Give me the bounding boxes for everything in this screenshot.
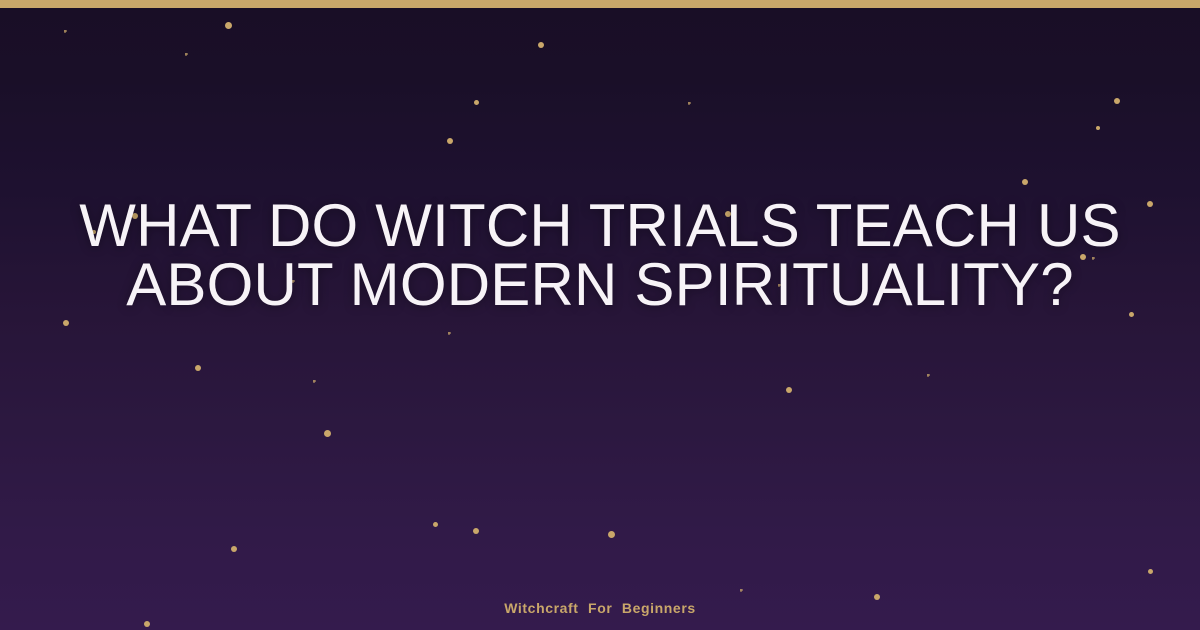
top-accent-bar — [0, 0, 1200, 8]
star-dot-4 — [1114, 98, 1120, 104]
footer-container: Witchcraft For Beginners — [0, 600, 1200, 618]
star-sparkle-22 — [927, 374, 930, 377]
page-title: WHAT DO WITCH TRIALS TEACH US ABOUT MODE… — [0, 196, 1200, 314]
poster-canvas: WHAT DO WITCH TRIALS TEACH US ABOUT MODE… — [0, 0, 1200, 630]
star-dot-25 — [324, 430, 331, 437]
star-sparkle-0 — [64, 30, 67, 33]
headline-container: WHAT DO WITCH TRIALS TEACH US ABOUT MODE… — [0, 196, 1200, 314]
star-sparkle-6 — [688, 102, 691, 105]
star-dot-3 — [538, 42, 544, 48]
brand-label: Witchcraft For Beginners — [504, 600, 696, 616]
star-dot-27 — [473, 528, 479, 534]
star-dot-29 — [231, 546, 237, 552]
star-dot-33 — [144, 621, 150, 627]
star-sparkle-31 — [740, 589, 743, 592]
star-dot-8 — [447, 138, 453, 144]
star-sparkle-24 — [313, 380, 316, 383]
star-dot-7 — [1096, 126, 1100, 130]
star-sparkle-20 — [448, 332, 451, 335]
star-dot-1 — [225, 22, 232, 29]
star-dot-23 — [786, 387, 792, 393]
star-dot-28 — [608, 531, 615, 538]
star-dot-26 — [433, 522, 438, 527]
star-dot-30 — [1148, 569, 1153, 574]
star-dot-19 — [63, 320, 69, 326]
star-sparkle-2 — [185, 53, 188, 56]
star-dot-21 — [195, 365, 201, 371]
star-dot-9 — [1022, 179, 1028, 185]
star-dot-5 — [474, 100, 479, 105]
